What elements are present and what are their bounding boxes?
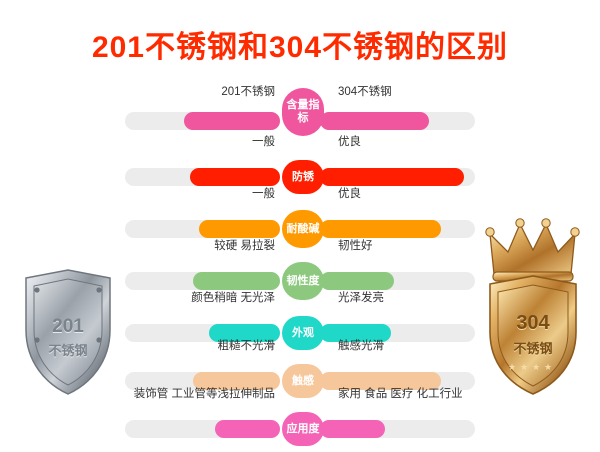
metric-pill-6: 触感 — [282, 364, 324, 398]
metric-pill-5: 外观 — [282, 316, 324, 350]
metric-pill-4: 韧性度 — [282, 262, 324, 300]
bar-track-left — [125, 112, 280, 130]
row-2-right-label: 优良 — [338, 134, 361, 150]
bar-fill-left — [184, 112, 280, 130]
bar-track-left — [125, 272, 280, 290]
row-2-left-label: 一般 — [252, 134, 275, 150]
steel-shield-201: 201 不锈钢 — [18, 268, 118, 396]
bar-track-right — [320, 220, 475, 238]
svg-text:★: ★ — [544, 362, 552, 372]
svg-text:★: ★ — [508, 362, 516, 372]
bar-track-right — [320, 168, 475, 186]
page-title: 201不锈钢和304不锈钢的区别 — [0, 22, 600, 66]
bar-fill-right — [320, 420, 385, 438]
row-5-left-label: 颜色稍暗 无光泽 — [191, 290, 275, 306]
gold-crown-shield-304: ★ ★ ★ ★ 304 不锈钢 — [478, 218, 588, 396]
bar-track-right — [320, 420, 475, 438]
metric-pill-2-label: 防锈 — [292, 171, 314, 184]
infographic-canvas: 201不锈钢和304不锈钢的区别 201不锈钢 304不锈钢 含量指标 一般 优… — [0, 0, 600, 452]
metric-pill-3-label: 耐酸碱 — [287, 223, 320, 236]
shield-201-caption: 不锈钢 — [18, 340, 118, 359]
row-3-left-label: 一般 — [252, 186, 275, 202]
row-7-left-label: 装饰管 工业管等浅拉伸制品 — [134, 386, 275, 402]
bar-fill-left — [199, 220, 280, 238]
bar-fill-left — [193, 272, 280, 290]
row-3-right-label: 优良 — [338, 186, 361, 202]
table-row: 装饰管 工业管等浅拉伸制品 家用 食品 医疗 化工行业 应用度 — [0, 398, 600, 442]
svg-text:★: ★ — [520, 362, 528, 372]
metric-pill-2: 防锈 — [282, 160, 324, 194]
row-4-right-label: 韧性好 — [338, 238, 373, 254]
shield-201-number: 201 — [18, 316, 118, 338]
metric-pill-4-label: 韧性度 — [287, 275, 320, 288]
bar-track-right — [320, 112, 475, 130]
metric-pill-3: 耐酸碱 — [282, 210, 324, 248]
bar-fill-right — [320, 168, 464, 186]
shield-304-number: 304 — [478, 312, 588, 335]
metric-pill-7: 应用度 — [282, 412, 324, 446]
bar-fill-right — [320, 220, 441, 238]
row-7-right-label: 家用 食品 医疗 化工行业 — [338, 386, 463, 402]
metric-pill-1: 含量指标 — [282, 88, 324, 136]
shield-304-caption: 不锈钢 — [478, 338, 588, 357]
crown-icon — [486, 219, 579, 281]
svg-text:★: ★ — [532, 362, 540, 372]
metric-pill-5-label: 外观 — [292, 327, 314, 340]
row-4-left-label: 较硬 易拉裂 — [214, 238, 275, 254]
row-6-left-label: 粗糙不光滑 — [218, 338, 276, 354]
metric-pill-6-label: 触感 — [292, 375, 314, 388]
metric-pill-1-label: 含量指标 — [286, 99, 320, 125]
bar-fill-right — [320, 272, 394, 290]
table-row: 一般 优良 防锈 — [0, 146, 600, 190]
row-6-right-label: 触感光滑 — [338, 338, 384, 354]
bar-track-right — [320, 272, 475, 290]
shield-304-graphic: ★ ★ ★ ★ — [478, 218, 588, 396]
table-row: 含量指标 — [0, 90, 600, 134]
bar-fill-left — [190, 168, 280, 186]
row-5-right-label: 光泽发亮 — [338, 290, 384, 306]
bar-fill-right — [320, 112, 429, 130]
bar-track-left — [125, 420, 280, 438]
bar-track-left — [125, 168, 280, 186]
metric-pill-7-label: 应用度 — [287, 423, 320, 436]
bar-track-left — [125, 220, 280, 238]
bar-fill-left — [215, 420, 280, 438]
